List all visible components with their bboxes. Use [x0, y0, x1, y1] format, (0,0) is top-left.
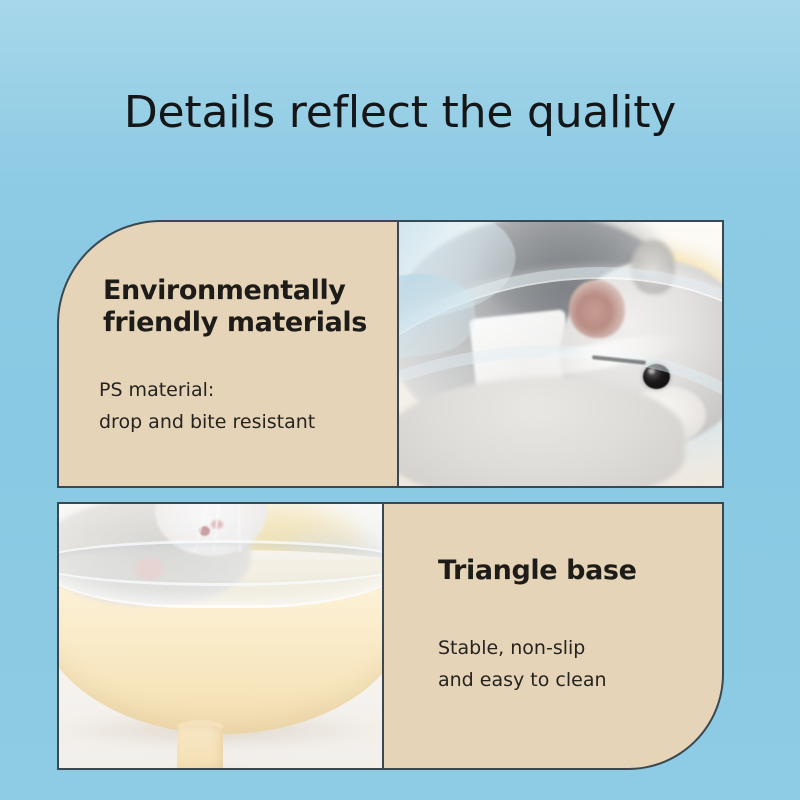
feature-text-panel-environmentally-friendly-materials: Environmentally friendly materials PS ma… — [57, 220, 398, 488]
hamster-ear-far — [631, 240, 675, 294]
feature-photo-hamster-in-clear-bowl — [398, 220, 724, 488]
feature-heading-line-1: Triangle base — [438, 555, 637, 586]
feature-body-environmentally-friendly-materials: PS material: drop and bite resistant — [99, 374, 398, 438]
feature-body-line-1: PS material: — [99, 374, 398, 406]
feature-body-line-1: Stable, non-slip — [438, 632, 607, 664]
hamster-eye — [643, 364, 670, 389]
feature-heading-line-2: friendly materials — [103, 307, 367, 338]
feature-body-line-2: and easy to clean — [438, 664, 607, 696]
feature-photo-bowl-base-with-triangle-foot — [57, 502, 383, 770]
feature-text-inner: Triangle base Stable, non-slip and easy … — [384, 504, 722, 768]
hamster-lower-fur — [398, 378, 685, 488]
bowl-base-image — [59, 504, 382, 768]
triangle-foot-shadow — [155, 766, 265, 770]
hamster-closeup-image — [399, 222, 722, 486]
feature-heading-environmentally-friendly-materials: Environmentally friendly materials — [103, 275, 383, 339]
feature-row-triangle-base: Triangle base Stable, non-slip and easy … — [57, 502, 724, 770]
triangle-foot — [177, 726, 223, 770]
page-root: Details reflect the quality Environmenta… — [0, 0, 800, 800]
feature-body-triangle-base: Stable, non-slip and easy to clean — [438, 632, 607, 696]
feature-body-line-2: drop and bite resistant — [99, 406, 398, 438]
page-title-text: Details reflect the quality — [124, 84, 676, 142]
page-title: Details reflect the quality — [0, 84, 800, 142]
feature-grid: Environmentally friendly materials PS ma… — [57, 220, 724, 770]
feature-row-environmentally-friendly-materials: Environmentally friendly materials PS ma… — [57, 220, 724, 488]
hamster-ear-near — [569, 280, 625, 338]
clear-dome-rim — [57, 540, 383, 586]
feature-heading-triangle-base: Triangle base — [438, 555, 637, 587]
feature-heading-line-1: Environmentally — [103, 275, 346, 306]
feature-text-inner: Environmentally friendly materials PS ma… — [59, 222, 397, 486]
feature-text-panel-triangle-base: Triangle base Stable, non-slip and easy … — [383, 502, 724, 770]
